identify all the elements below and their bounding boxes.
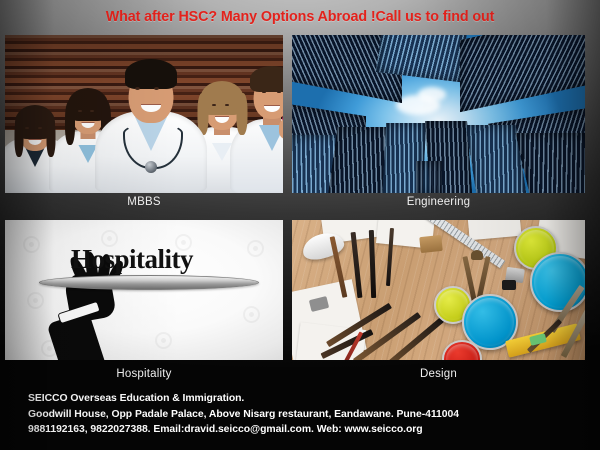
wood-block bbox=[419, 235, 443, 253]
compass-hinge bbox=[471, 250, 483, 260]
slide-title-bar: What after HSC? Many Options Abroad !Cal… bbox=[0, 0, 600, 33]
footer-company-name: SEICCO Overseas Education & Immigration. bbox=[28, 391, 588, 407]
hair-side-right bbox=[46, 117, 55, 157]
serving-tray bbox=[39, 275, 259, 290]
watermark-dot bbox=[243, 306, 260, 323]
raised-hand bbox=[279, 119, 283, 139]
mbbs-student-3 bbox=[97, 49, 205, 193]
eye-left bbox=[135, 87, 140, 90]
skyscraper-distant-center bbox=[416, 161, 442, 193]
presentation-slide: What after HSC? Many Options Abroad !Cal… bbox=[0, 0, 600, 450]
caption-mbbs: MBBS bbox=[5, 196, 283, 208]
black-eraser bbox=[502, 280, 516, 290]
photo-design bbox=[292, 220, 585, 360]
slide-title: What after HSC? Many Options Abroad !Cal… bbox=[106, 9, 495, 25]
stethoscope-bell bbox=[145, 161, 157, 173]
caption-hospitality: Hospitality bbox=[5, 368, 283, 380]
hair-side-left bbox=[15, 117, 24, 157]
footer-address: Goodwill House, Opp Padale Palace, Above… bbox=[28, 407, 588, 423]
photo-engineering bbox=[292, 35, 585, 193]
watermark-dot bbox=[23, 236, 40, 253]
cloud-2 bbox=[418, 87, 446, 102]
photo-hospitality: Hospitality bbox=[5, 220, 283, 360]
hospitality-wordmark: Hospitality bbox=[71, 244, 193, 275]
caption-design: Design bbox=[292, 368, 585, 380]
watermark-dot bbox=[27, 292, 44, 309]
contact-footer: SEICCO Overseas Education & Immigration.… bbox=[28, 391, 588, 438]
footer-contact: 9881192163, 9822027388. Email:dravid.sei… bbox=[28, 422, 588, 438]
watermark-dot bbox=[155, 332, 172, 349]
photo-mbbs bbox=[5, 35, 283, 193]
hair-side-right bbox=[236, 93, 247, 135]
eye-right bbox=[154, 87, 159, 90]
paint-can-cyan-large bbox=[530, 252, 585, 312]
watermark-dot bbox=[247, 240, 264, 257]
hospitality-backdrop bbox=[5, 220, 283, 360]
hair bbox=[125, 59, 177, 89]
hair bbox=[250, 66, 283, 92]
caption-engineering: Engineering bbox=[292, 196, 585, 208]
hair-side-left bbox=[65, 101, 75, 145]
